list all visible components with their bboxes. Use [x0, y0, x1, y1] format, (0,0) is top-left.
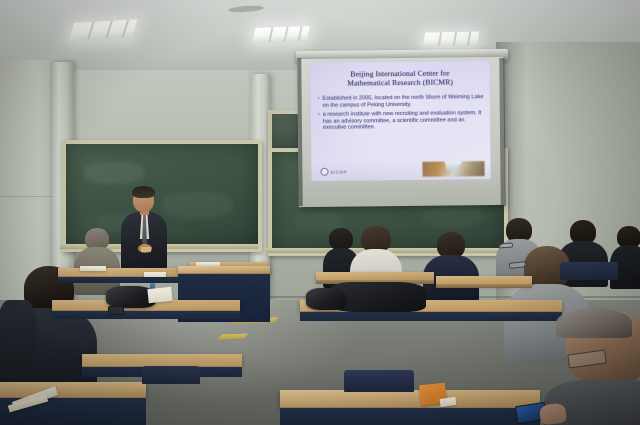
slide-bullet-item: • a research institute with new recruiti… — [318, 110, 484, 132]
bag-on-desk — [306, 288, 346, 310]
projected-slide: Beijing International Center for Mathema… — [310, 61, 490, 181]
slide-title-line2: Mathematical Research (BICMR) — [321, 78, 480, 89]
chair-back — [142, 366, 200, 384]
slide-footer-logo: BICMR — [320, 168, 347, 176]
desk-papers — [80, 266, 106, 271]
slide-bullet-item: • Established in 2005, located on the no… — [318, 94, 484, 109]
audience-member — [425, 232, 477, 302]
desk-surface — [436, 276, 532, 285]
desk-surface — [0, 382, 146, 398]
bullet-dot-icon: • — [318, 112, 320, 132]
desk-surface — [316, 272, 434, 281]
slide-logo-text: BICMR — [331, 169, 348, 174]
ceiling-light-center — [252, 26, 310, 43]
logo-ring-icon — [320, 168, 328, 176]
wall-seam-left — [0, 196, 52, 197]
slide-footer-photo — [422, 161, 484, 177]
desk-apron — [280, 408, 540, 425]
chair-back — [560, 262, 618, 280]
ceiling-light-right — [423, 32, 479, 47]
desk-apron — [52, 311, 240, 319]
desk-papers — [144, 272, 166, 277]
speaker-held-notes — [141, 247, 151, 252]
slide-title: Beijing International Center for Mathema… — [320, 68, 479, 88]
phone-on-desk — [108, 306, 124, 315]
lecture-hall-photo: Beijing International Center for Mathema… — [0, 0, 640, 425]
ceiling-light-left — [69, 19, 138, 40]
chair-back — [344, 370, 414, 392]
slide-bullet-text: a research institute with new recruiting… — [323, 110, 484, 131]
desk-apron — [300, 312, 562, 321]
bullet-dot-icon: • — [318, 96, 320, 109]
audience-hair — [556, 308, 632, 338]
slide-photo-building — [444, 161, 462, 170]
audience-hand — [539, 403, 567, 425]
presenter-table — [178, 266, 270, 274]
speaker-hair — [132, 186, 155, 198]
slide-bullet-text: Established in 2005, located on the nort… — [322, 94, 483, 109]
desk-papers — [147, 287, 172, 303]
desk-surface — [280, 390, 540, 408]
slide-bullet-list: • Established in 2005, located on the no… — [318, 94, 484, 135]
